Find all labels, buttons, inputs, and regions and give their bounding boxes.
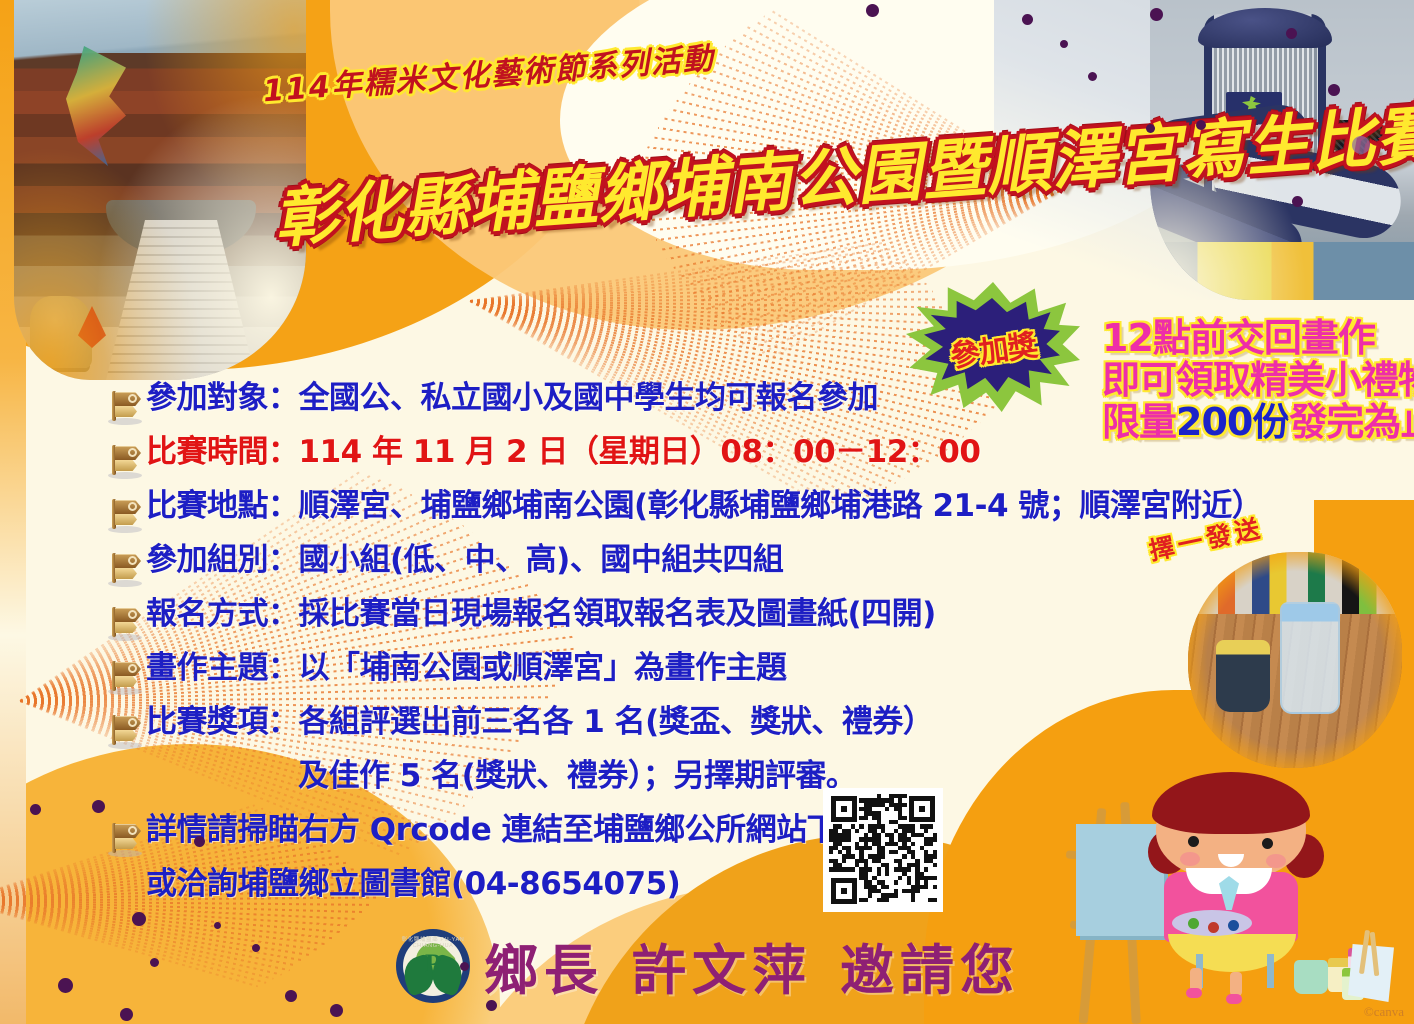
detail-text: 或洽詢埔鹽鄉立圖書館(04-8654075) <box>146 868 1118 901</box>
signature-invite: 邀請您 <box>840 938 1020 1002</box>
flag-bullet-icon <box>108 877 146 909</box>
girl-shoe-right <box>1226 994 1242 1004</box>
detail-text: 畫作主題：以「埔南公園或順澤宮」為畫作主題 <box>146 652 1118 685</box>
detail-row: 參加對象：全國公、私立國小及國中學生均可報名參加 <box>108 382 1118 436</box>
gift-promo-block: 12點前交回畫作 即可領取精美小禮物 限量200份發完為止 <box>1102 318 1414 443</box>
flag-bullet-knob <box>128 502 137 511</box>
canva-watermark: ©canva <box>1364 1004 1404 1020</box>
flag-bullet-knob <box>128 664 137 673</box>
detail-row: 或洽詢埔鹽鄉立圖書館(04-8654075) <box>108 868 1118 922</box>
flag-bullet-icon <box>108 391 146 423</box>
palette-paint-red <box>1208 922 1219 933</box>
decorative-dot <box>1088 72 1097 81</box>
detail-row: 及佳作 5 名(獎狀、禮券）；另擇期評審。 <box>108 760 1118 814</box>
flag-bullet-icon <box>108 607 146 639</box>
decorative-dot <box>194 836 205 847</box>
flag-bullet-knob <box>128 610 137 619</box>
detail-text: 詳情請掃瞄右方 Qrcode 連結至埔鹽鄉公所網站下載簡章 <box>146 814 1118 847</box>
decorative-dot <box>330 1004 343 1017</box>
girl-eye-right <box>1262 838 1273 849</box>
logo-letter-p: P <box>396 949 470 979</box>
palette-paint-blue <box>1228 920 1239 931</box>
girl-hair <box>1152 772 1310 834</box>
qrcode-finder-bottom-left <box>831 878 857 904</box>
flag-bullet-lower <box>115 838 137 849</box>
decorative-dot <box>252 944 260 952</box>
decorative-dot <box>1150 8 1163 21</box>
gift-photo-fade-mask <box>1188 552 1402 768</box>
flag-bullet-icon <box>108 715 146 747</box>
event-details-list: 參加對象：全國公、私立國小及國中學生均可報名參加比賽時間：114 年 11 月 … <box>108 382 1118 922</box>
flag-bullet-icon <box>108 823 146 855</box>
palette-paint-green <box>1188 918 1199 929</box>
decorative-dot <box>285 990 297 1002</box>
detail-row: 報名方式：採比賽當日現場報名領取報名表及圖畫紙(四開) <box>108 598 1118 652</box>
detail-text: 參加對象：全國公、私立國小及國中學生均可報名參加 <box>146 382 1118 415</box>
signature-block: P 彰化縣埔鹽鄉 PU-YAN CHIANG-HUA 鄉長許文萍邀請您 <box>396 926 1020 1005</box>
decorative-dot <box>1060 40 1068 48</box>
decorative-dot <box>486 1000 497 1011</box>
temple-photo-fade-mask <box>14 0 306 380</box>
detail-text: 參加組別：國小組(低、中、高)、國中組共四組 <box>146 544 1118 577</box>
decorative-dot <box>1196 120 1206 130</box>
decorative-dot <box>866 4 879 17</box>
flag-bullet-lower <box>115 622 137 633</box>
decorative-dot <box>1022 14 1033 25</box>
flag-bullet-knob <box>128 556 137 565</box>
girl-painting-illustration: ©canva <box>1060 772 1414 1024</box>
qrcode-finder-top-right <box>909 796 935 822</box>
decorative-dot <box>460 962 469 971</box>
flag-bullet-icon <box>108 499 146 531</box>
qrcode[interactable] <box>823 788 943 912</box>
girl-cheek-left <box>1180 852 1200 866</box>
detail-row: 畫作主題：以「埔南公園或順澤宮」為畫作主題 <box>108 652 1118 706</box>
detail-row: 比賽時間：114 年 11 月 2 日（星期日）08：00－12：00 <box>108 436 1118 490</box>
decorative-dot <box>1328 84 1340 96</box>
gift-products-photo <box>1188 552 1402 768</box>
decorative-dot <box>1286 28 1297 39</box>
promo-line-3-post: 發完為止 <box>1289 400 1414 444</box>
detail-text: 比賽時間：114 年 11 月 2 日（星期日）08：00－12：00 <box>146 436 1118 469</box>
flag-bullet-icon <box>108 661 146 693</box>
decorative-dot <box>214 922 221 929</box>
water-cup <box>1294 960 1328 994</box>
decorative-dot <box>92 800 105 813</box>
girl-cheek-right <box>1266 854 1286 868</box>
qrcode-finder-top-left <box>831 796 857 822</box>
girl-eye-left <box>1188 836 1199 847</box>
decorative-dot <box>132 912 146 926</box>
flag-bullet-knob <box>128 394 137 403</box>
girl-shoe-left <box>1186 988 1202 998</box>
detail-text: 比賽獎項：各組評選出前三名各 1 名(獎盃、獎狀、禮券） <box>146 706 1118 739</box>
logo-arc-text: 彰化縣埔鹽鄉 PU-YAN CHIANG-HUA <box>396 935 470 949</box>
decorative-dot <box>1352 136 1370 154</box>
flag-bullet-knob <box>128 826 137 835</box>
promo-line-3: 限量200份發完為止 <box>1102 402 1414 444</box>
temple-photo <box>14 0 306 380</box>
flag-bullet-icon <box>108 553 146 585</box>
flag-bullet-icon <box>108 769 146 801</box>
decorative-dot <box>1146 124 1155 133</box>
girl-leg-right <box>1230 972 1242 996</box>
decorative-dot <box>30 804 41 815</box>
decorative-fan-lines-center <box>470 300 471 301</box>
flag-bullet-lower <box>115 676 137 687</box>
decorative-dot <box>1292 196 1303 207</box>
detail-text: 報名方式：採比賽當日現場報名領取報名表及圖畫紙(四開) <box>146 598 1118 631</box>
flag-bullet-lower <box>115 460 137 471</box>
detail-row: 比賽獎項：各組評選出前三名各 1 名(獎盃、獎狀、禮券） <box>108 706 1118 760</box>
detail-row: 參加組別：國小組(低、中、高)、國中組共四組 <box>108 544 1118 598</box>
flag-bullet-knob <box>128 718 137 727</box>
decorative-dot <box>150 958 159 967</box>
promo-line-1: 12點前交回畫作 <box>1102 318 1414 360</box>
promo-quantity: 200份 <box>1176 400 1289 444</box>
flag-bullet-lower <box>115 514 137 525</box>
decorative-dot <box>58 978 73 993</box>
signature-role: 鄉長 <box>484 938 604 1002</box>
flag-bullet-knob <box>128 448 137 457</box>
detail-text: 及佳作 5 名(獎狀、禮券）；另擇期評審。 <box>146 760 1118 793</box>
flag-bullet-lower <box>115 730 137 741</box>
township-logo: P 彰化縣埔鹽鄉 PU-YAN CHIANG-HUA <box>396 929 470 1003</box>
flag-bullet-icon <box>108 445 146 477</box>
promo-line-2: 即可領取精美小禮物 <box>1102 360 1414 402</box>
signature-name: 許文萍 <box>632 938 812 1002</box>
poster-canvas: 114年糯米文化藝術節系列活動 彰化縣埔鹽鄉埔南公園暨順澤宮寫生比賽 參加獎 1… <box>0 0 1414 1024</box>
signature-text: 鄉長許文萍邀請您 <box>484 926 1020 1005</box>
qrcode-modules <box>829 794 937 906</box>
detail-row: 詳情請掃瞄右方 Qrcode 連結至埔鹽鄉公所網站下載簡章 <box>108 814 1118 868</box>
detail-text: 比賽地點：順澤宮、埔鹽鄉埔南公園(彰化縣埔鹽鄉埔港路 21-4 號；順澤宮附近） <box>146 490 1262 523</box>
decorative-dot <box>120 1008 133 1021</box>
detail-row: 比賽地點：順澤宮、埔鹽鄉埔南公園(彰化縣埔鹽鄉埔港路 21-4 號；順澤宮附近） <box>108 490 1118 544</box>
flag-bullet-lower <box>115 568 137 579</box>
flag-bullet-lower <box>115 406 137 417</box>
